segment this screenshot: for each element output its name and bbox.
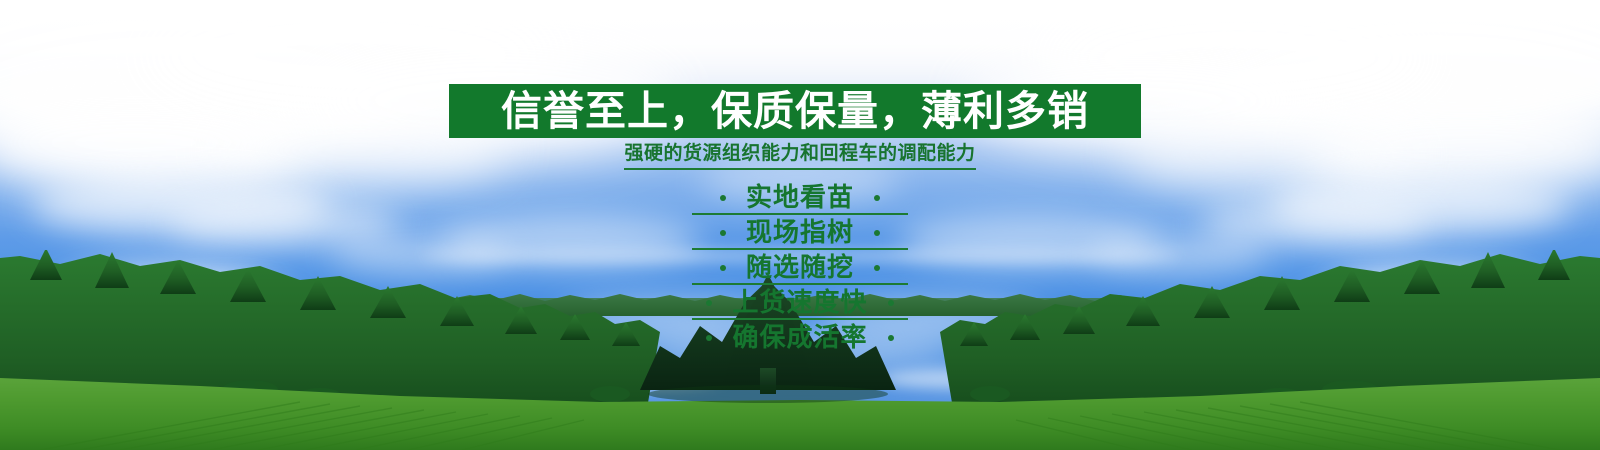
- feature-label: 上货速度快: [732, 290, 867, 316]
- subtitle-text: 强硬的货源组织能力和回程车的调配能力: [624, 143, 975, 170]
- feature-item: 上货速度快: [0, 285, 1600, 320]
- bullet-dot-icon: [874, 230, 880, 236]
- bullet-dot-icon: [720, 195, 726, 201]
- bullet-dot-icon: [706, 300, 712, 306]
- feature-label: 现场指树: [746, 220, 854, 246]
- subtitle-container: 强硬的货源组织能力和回程车的调配能力: [0, 143, 1600, 170]
- feature-label: 确保成活率: [732, 325, 867, 351]
- feature-item: 随选随挖: [0, 250, 1600, 285]
- feature-list: 实地看苗 现场指树 随选随挖 上货速度快 确保成活率: [0, 180, 1600, 355]
- feature-label: 实地看苗: [746, 185, 854, 211]
- bullet-dot-icon: [874, 195, 880, 201]
- bullet-dot-icon: [874, 265, 880, 271]
- feature-label: 随选随挖: [746, 255, 854, 281]
- bullet-dot-icon: [720, 265, 726, 271]
- promotional-banner: 信誉至上，保质保量，薄利多销 强硬的货源组织能力和回程车的调配能力 实地看苗 现…: [0, 0, 1600, 450]
- feature-item: 现场指树: [0, 215, 1600, 250]
- bullet-dot-icon: [888, 335, 894, 341]
- bullet-dot-icon: [720, 230, 726, 236]
- feature-item: 确保成活率: [0, 320, 1600, 355]
- headline-text: 信誉至上，保质保量，薄利多销: [501, 91, 1089, 132]
- bullet-dot-icon: [706, 335, 712, 341]
- bullet-dot-icon: [888, 300, 894, 306]
- feature-item: 实地看苗: [0, 180, 1600, 215]
- headline-bar: 信誉至上，保质保量，薄利多销: [449, 84, 1141, 138]
